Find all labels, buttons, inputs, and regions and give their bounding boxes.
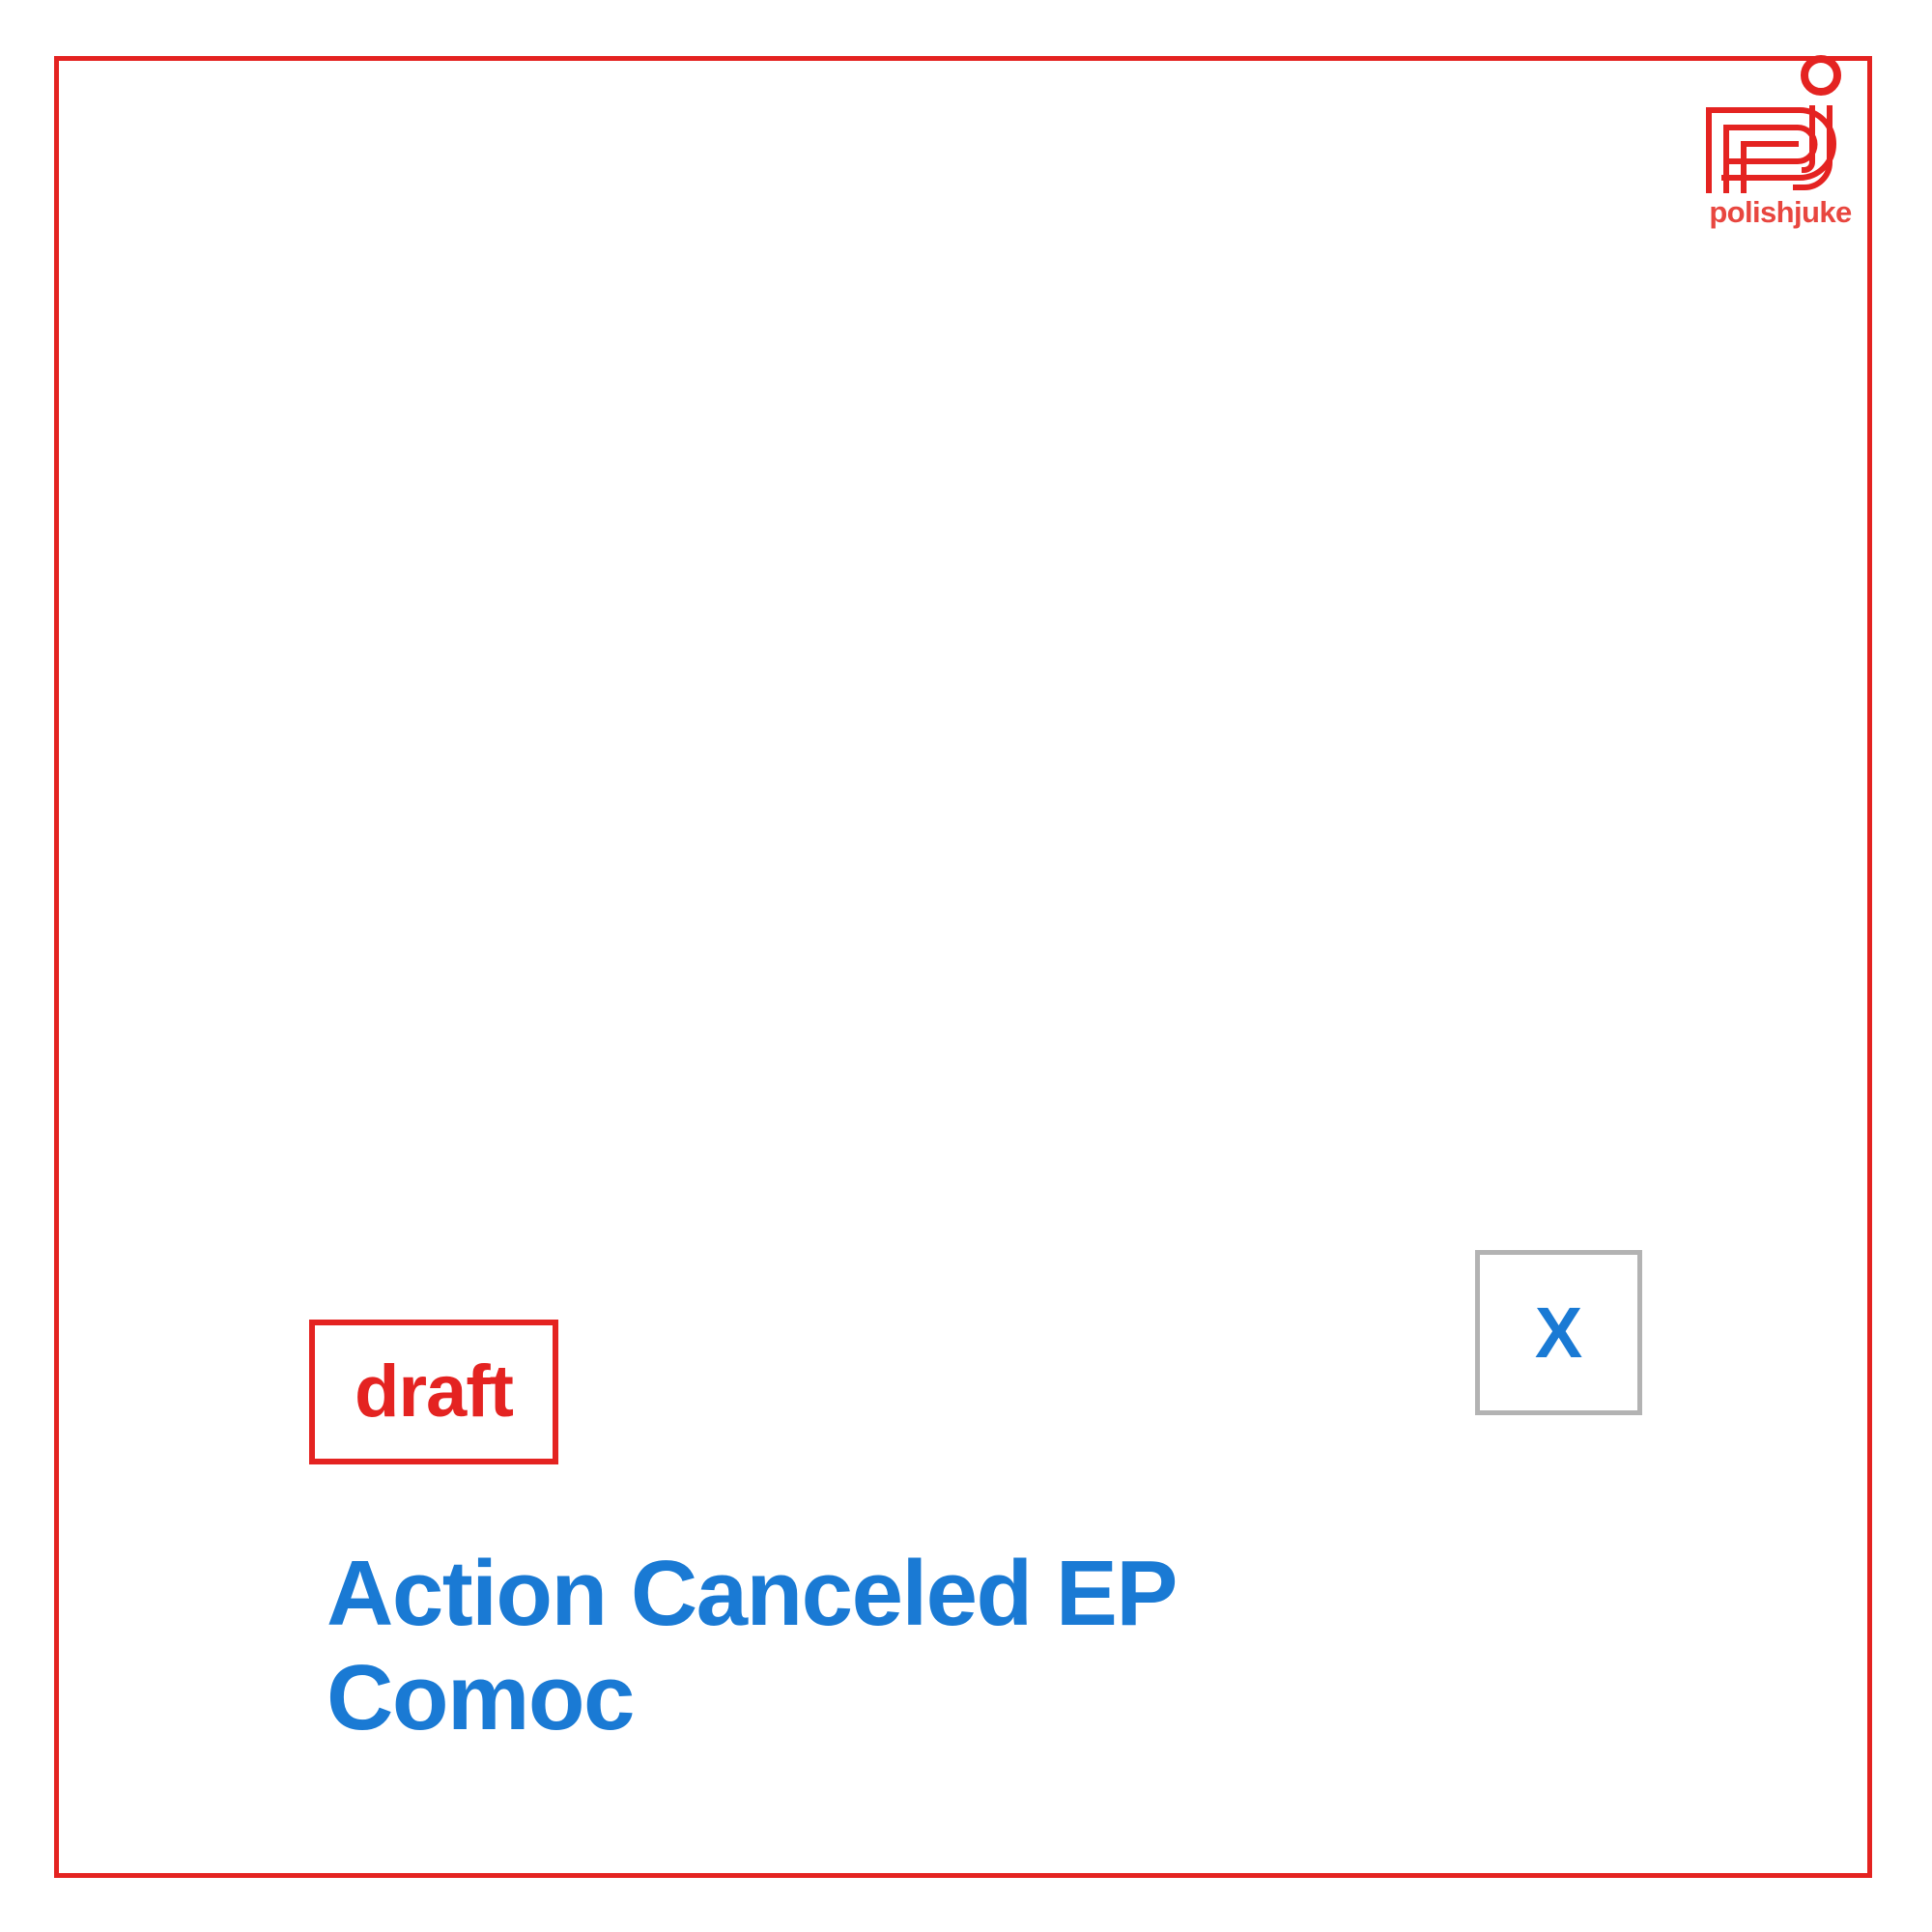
brand-wordmark: polishjuke bbox=[1689, 197, 1872, 227]
pj-monogram-logo-icon bbox=[1695, 48, 1865, 193]
status-badge-label: draft bbox=[355, 1355, 513, 1429]
brand-logo[interactable]: polishjuke bbox=[1689, 48, 1872, 241]
j-dot-icon bbox=[1804, 59, 1837, 92]
close-icon: X bbox=[1535, 1297, 1582, 1369]
close-button[interactable]: X bbox=[1475, 1250, 1642, 1415]
status-badge: draft bbox=[309, 1320, 558, 1464]
release-title-block: Action Canceled EP Comoc bbox=[327, 1542, 1408, 1749]
release-title: Action Canceled EP bbox=[327, 1542, 1408, 1646]
release-artist: Comoc bbox=[327, 1646, 1408, 1750]
release-card-page: polishjuke draft X Action Canceled EP Co… bbox=[0, 0, 1932, 1932]
